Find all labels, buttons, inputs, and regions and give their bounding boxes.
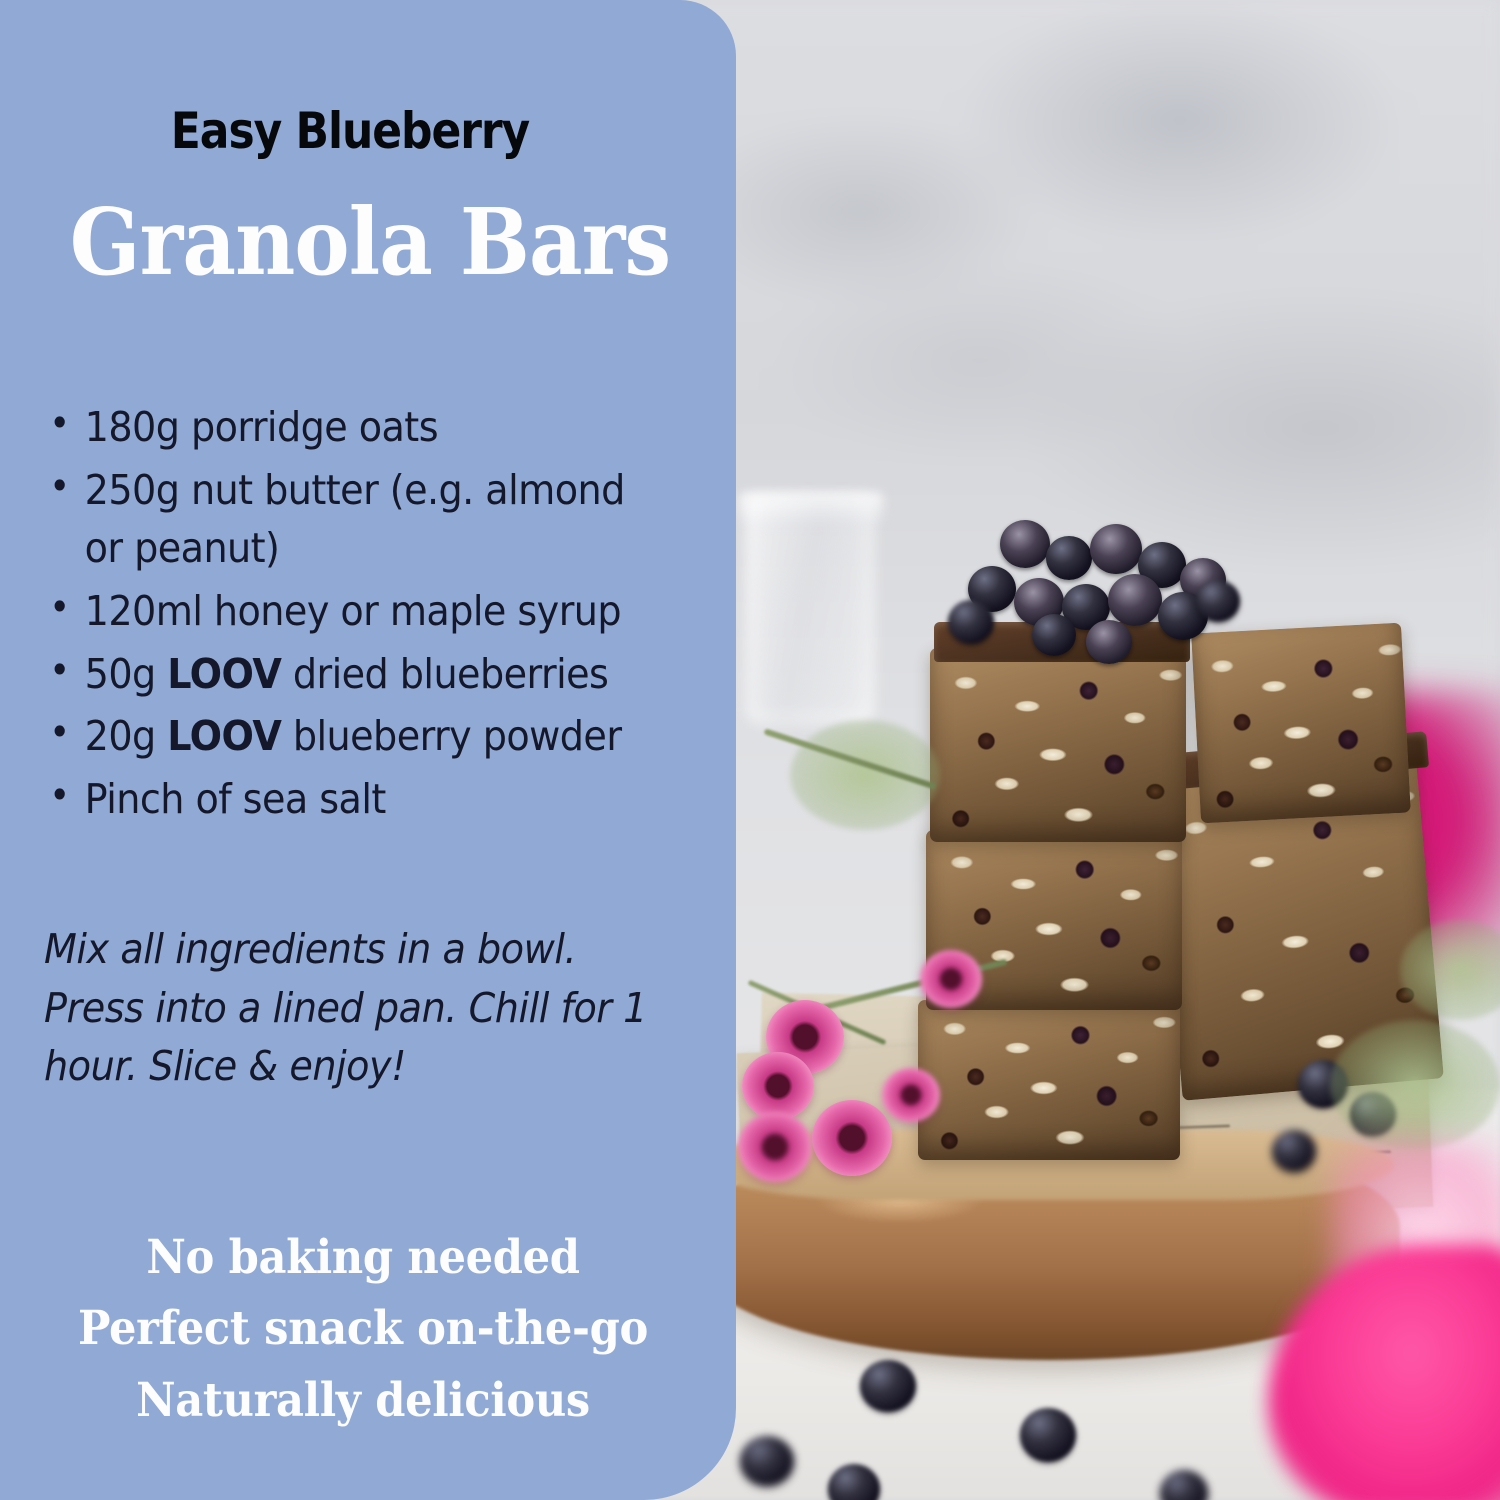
granola-bar-stack-bottom	[918, 1000, 1180, 1160]
scattered-blueberry	[1020, 1408, 1076, 1462]
ingredients-list: 180g porridge oats250g nut butter (e.g. …	[40, 398, 720, 832]
ingredient-item: 50g LOOV dried blueberries	[40, 645, 672, 704]
glass-jar	[745, 495, 875, 725]
tagline: Perfect snack on-the-go	[29, 1293, 697, 1364]
dried-blueberry	[1032, 614, 1076, 656]
tagline: Naturally delicious	[29, 1365, 697, 1436]
recipe-title: Granola Bars	[37, 188, 703, 296]
ingredient-item: Pinch of sea salt	[40, 770, 672, 829]
pink-wax-flower	[742, 1052, 814, 1120]
dried-blueberry	[1086, 620, 1132, 664]
granola-bar-back	[1191, 623, 1411, 824]
brand-name: LOOV	[167, 712, 281, 760]
dried-blueberry	[1108, 574, 1162, 626]
taglines-group: No baking neededPerfect snack on-the-goN…	[0, 1222, 726, 1436]
instructions-text: Mix all ingredients in a bowl. Press int…	[44, 920, 658, 1096]
granola-bar-stack-top	[930, 648, 1186, 842]
ingredient-item: 180g porridge oats	[40, 398, 672, 457]
recipe-text-panel: Easy Blueberry Granola Bars 180g porridg…	[0, 0, 736, 1500]
dried-blueberry	[1090, 524, 1142, 574]
recipe-card: purpose. with a A tin link	[0, 0, 1500, 1500]
ingredient-item: 250g nut butter (e.g. almond or peanut)	[40, 461, 672, 578]
brand-name: LOOV	[167, 650, 281, 698]
pink-wax-flower	[882, 1068, 940, 1122]
pink-wax-flower	[920, 950, 982, 1008]
scattered-blueberry	[1272, 1130, 1316, 1172]
tagline: No baking needed	[29, 1222, 697, 1293]
dried-blueberry	[1000, 520, 1050, 568]
dried-blueberry	[948, 600, 994, 644]
dried-blueberry	[1046, 536, 1092, 580]
green-sprig	[1330, 1020, 1500, 1150]
ingredient-item: 120ml honey or maple syrup	[40, 582, 672, 641]
green-sprig	[790, 720, 940, 830]
scattered-blueberry	[860, 1360, 916, 1412]
scattered-blueberry	[740, 1436, 794, 1486]
recipe-subtitle: Easy Blueberry	[42, 102, 658, 160]
dried-blueberry	[1196, 580, 1240, 622]
pink-wax-flower	[812, 1100, 892, 1176]
pink-wax-flower	[738, 1112, 812, 1182]
ingredient-item: 20g LOOV blueberry powder	[40, 707, 672, 766]
